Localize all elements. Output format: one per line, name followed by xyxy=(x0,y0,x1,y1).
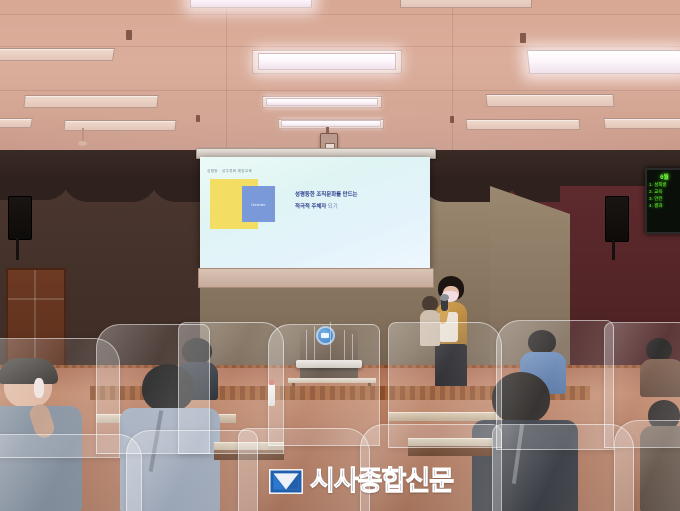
ceiling-light-panel xyxy=(23,95,158,108)
ceiling-light-panel xyxy=(485,94,614,107)
sprinkler-head xyxy=(78,141,87,146)
projection-screen: 성평등 · 성주류화 예방교육 Gender 성평등한 조직문화를 만드는 적극… xyxy=(200,157,430,269)
ceiling-seam xyxy=(226,0,227,150)
ceiling-light-panel xyxy=(281,120,381,127)
newspaper-logo-icon xyxy=(268,466,304,497)
speaker-bracket xyxy=(16,238,19,260)
microphone-head xyxy=(440,294,449,301)
ceiling-vent xyxy=(196,115,200,122)
ceiling-light-panel xyxy=(0,48,115,61)
ceiling-seam xyxy=(0,90,680,91)
slide-heading-tail: 되기 xyxy=(326,204,337,210)
wall-speaker-left xyxy=(8,196,32,240)
news-outlet-name: 시사종합신문 xyxy=(310,468,453,495)
acrylic-divider xyxy=(614,420,680,511)
photo-canvas: 6월 1. 성희롱 2. 교육 3. 안전 4. 결과 성평등 · 성주류화 예… xyxy=(0,0,680,511)
curtain-scallop xyxy=(62,176,158,202)
ceiling-seam xyxy=(0,46,680,47)
ceiling-light-panel xyxy=(266,98,378,106)
led-information-sign: 6월 1. 성희롱 2. 교육 3. 안전 4. 결과 xyxy=(645,168,680,234)
projector xyxy=(320,133,338,149)
ceiling-vent xyxy=(450,116,454,123)
ceiling-light-panel xyxy=(466,119,581,130)
led-sign-row: 4. 결과 xyxy=(649,203,680,209)
ceiling-seam xyxy=(0,14,680,15)
led-sign-row: 2. 교육 xyxy=(649,189,680,195)
ceiling-seam xyxy=(452,0,453,150)
slide-heading-line-1: 성평등한 조직문화를 만드는 xyxy=(295,190,358,198)
ceiling-light-panel xyxy=(190,0,312,8)
sprinkler-drop xyxy=(82,128,84,142)
ceiling-vent xyxy=(520,33,526,43)
slide-heading-line-2: 적극적 주체자 되기 xyxy=(295,202,338,210)
acrylic-divider xyxy=(0,434,142,511)
ceiling-light-panel xyxy=(527,50,680,74)
ceiling-light-panel xyxy=(0,118,33,128)
ceiling-light-panel xyxy=(603,118,680,129)
projection-screen-bottom-bar xyxy=(198,268,434,288)
acrylic-divider xyxy=(492,424,634,511)
led-sign-title: 6월 xyxy=(647,172,680,181)
speaker-bracket xyxy=(612,240,615,260)
assistant-hair xyxy=(422,296,438,311)
ceiling-vent xyxy=(126,30,132,40)
ceiling-light-panel xyxy=(258,53,396,70)
slide-header-text: 성평등 · 성주류화 예방교육 xyxy=(207,169,252,174)
led-sign-row: 1. 성희롱 xyxy=(649,182,680,188)
wall-speaker-right xyxy=(605,196,629,242)
slide-block-label: Gender xyxy=(251,202,266,207)
ceiling-light-panel xyxy=(64,120,177,131)
news-outlet-watermark: 시사종합신문 xyxy=(268,466,453,497)
slide-heading-emphasis: 적극적 주체자 xyxy=(295,204,326,210)
ceiling-light-panel xyxy=(400,0,532,8)
led-sign-row: 3. 안전 xyxy=(649,196,680,202)
slide-blue-block: Gender xyxy=(242,186,275,222)
